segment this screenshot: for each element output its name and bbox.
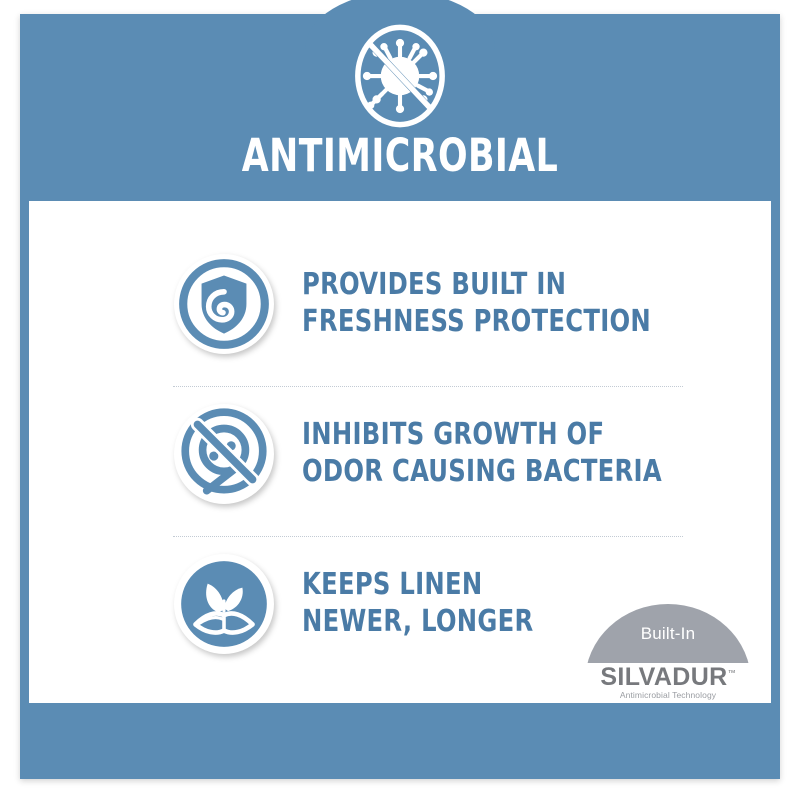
badge-middle-section: SILVADUR™ Antimicrobial Technology [585, 663, 751, 703]
badge-wordmark-text: SILVADUR [600, 663, 727, 691]
badge-tagline: Antimicrobial Technology [585, 691, 751, 700]
feature-row: INHIBITS GROWTH OF ODOR CAUSING BACTERIA [29, 379, 771, 529]
blue-panel: ANTIMICROBIAL PROVIDES BUILT IN FRESHNES… [20, 14, 780, 779]
feature-card: PROVIDES BUILT IN FRESHNESS PROTECTION [29, 201, 771, 703]
header: ANTIMICROBIAL [20, 14, 780, 201]
badge-overflow-clip [585, 703, 751, 763]
badge-trademark-symbol: ™ [728, 669, 736, 678]
badge-wordmark: SILVADUR™ [600, 665, 735, 690]
page-title: ANTIMICROBIAL [242, 133, 559, 178]
feature-row: PROVIDES BUILT IN FRESHNESS PROTECTION [29, 229, 771, 379]
feature-text: PROVIDES BUILT IN FRESHNESS PROTECTION [302, 267, 651, 341]
feature-text: INHIBITS GROWTH OF ODOR CAUSING BACTERIA [302, 417, 662, 491]
no-bacteria-icon [173, 403, 275, 505]
silvadur-badge: Built-In SILVADUR™ Antimicrobial Technol… [585, 604, 751, 703]
infographic-canvas: ANTIMICROBIAL PROVIDES BUILT IN FRESHNES… [0, 0, 800, 800]
badge-top-section: Built-In [585, 604, 751, 663]
no-virus-icon [345, 21, 455, 131]
feature-text: KEEPS LINEN NEWER, LONGER [302, 567, 533, 641]
badge-built-in-label: Built-In [641, 624, 696, 644]
shield-freshness-icon [173, 253, 275, 355]
leaf-linen-icon [173, 553, 275, 655]
feature-list: PROVIDES BUILT IN FRESHNESS PROTECTION [29, 201, 771, 703]
